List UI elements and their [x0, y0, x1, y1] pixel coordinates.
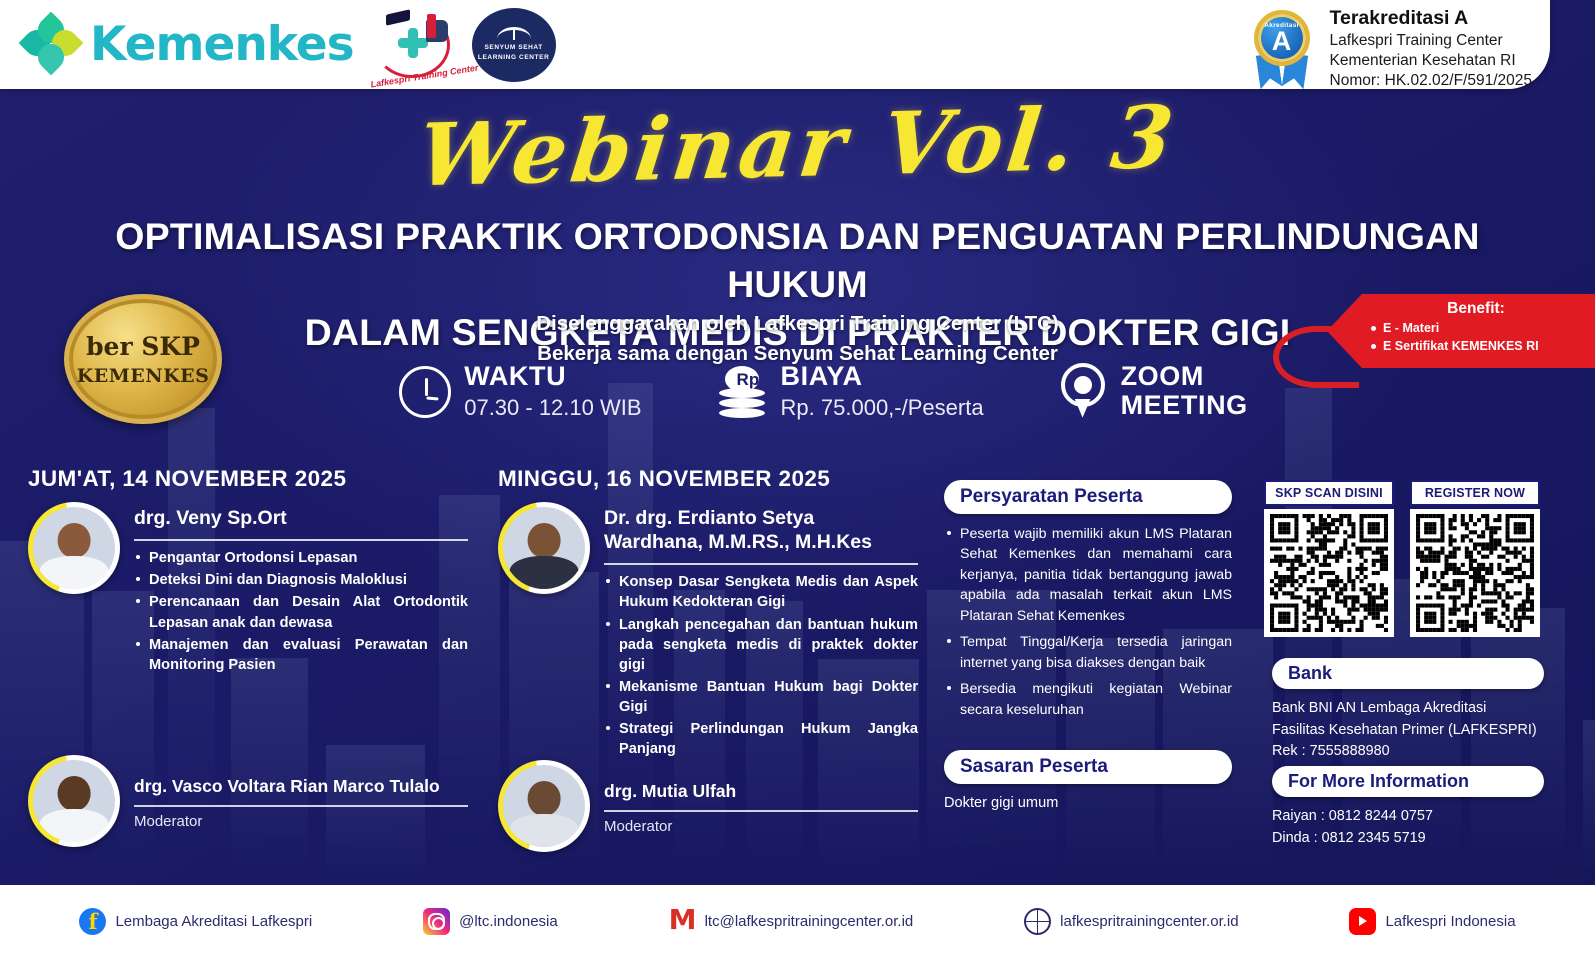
list-item: Peserta wajib memiliki akun LMS Plataran… [944, 524, 1232, 626]
target-title: Sasaran Peserta [960, 756, 1108, 777]
ssl-logo-line1: SENYUM SEHAT [484, 43, 542, 53]
requirements-title: Persyaratan Peserta [960, 486, 1143, 507]
clock-icon [399, 366, 451, 418]
main-title-line1: OPTIMALISASI PRAKTIK ORTODONSIA DAN PENG… [46, 212, 1549, 308]
benefit-title: Benefit: [1369, 300, 1583, 318]
waktu-caption: WAKTU [464, 362, 641, 391]
day-one-speaker-name: drg. Veny Sp.Ort [134, 506, 468, 530]
qr-skp[interactable]: SKP SCAN DISINI [1264, 480, 1394, 637]
kemenkes-logo: Kemenkes [22, 16, 354, 74]
divider [134, 539, 468, 541]
more-information-panel: For More Information Raiyan : 0812 8244 … [1272, 766, 1544, 849]
bank-line1: Bank BNI AN Lembaga Akreditasi [1272, 698, 1544, 720]
more-info-header: For More Information [1272, 766, 1544, 797]
footer-facebook[interactable]: Lembaga Akreditasi Lafkespri [79, 908, 312, 935]
footer-instagram[interactable]: @ltc.indonesia [423, 908, 558, 935]
day-one-column: JUM'AT, 14 NOVEMBER 2025 drg. Veny Sp.Or… [28, 466, 468, 677]
bank-account-number: Rek : 7555888980 [1272, 741, 1544, 763]
avatar [28, 755, 120, 847]
footer-email[interactable]: ltc@lafkespritrainingcenter.or.id [669, 908, 914, 935]
poster-footer: Lembaga Akreditasi Lafkespri @ltc.indone… [0, 885, 1595, 957]
accreditation-block: Akreditasi A Terakreditasi A Lafkespri T… [1246, 6, 1532, 90]
list-item: Strategi Perlindungan Hukum Jangka Panja… [604, 719, 918, 759]
instagram-icon [423, 908, 450, 935]
zoom-caption-line1: ZOOM [1121, 362, 1248, 391]
globe-icon [1024, 908, 1051, 935]
accreditation-badge-grade: A [1272, 29, 1292, 55]
bank-panel: Bank Bank BNI AN Lembaga Akreditasi Fasi… [1272, 658, 1544, 763]
benefit-item: E Sertifikat KEMENKES RI [1369, 338, 1583, 356]
day-two-topic-list: Konsep Dasar Sengketa Medis dan Aspek Hu… [604, 572, 918, 759]
senyum-sehat-learning-center-logo: SENYUM SEHAT LEARNING CENTER [472, 8, 556, 82]
accreditation-number: Nomor: HK.02.02/F/591/2025 [1330, 71, 1532, 91]
lafkespri-training-center-logo: Lafkespri Training Center [368, 6, 456, 84]
location-pin-icon [1058, 363, 1108, 419]
accreditation-ribbon-icon: Akreditasi A [1246, 8, 1318, 88]
avatar [498, 760, 590, 852]
day-two-date: MINGGU, 16 NOVEMBER 2025 [498, 466, 918, 492]
open-book-icon [497, 27, 531, 39]
footer-website[interactable]: lafkespritrainingcenter.or.id [1024, 908, 1238, 935]
qr-register-label-box: REGISTER NOW [1410, 480, 1540, 506]
zoom-caption-line2: MEETING [1121, 391, 1248, 420]
poster-header: Kemenkes Lafkespri Training Center SENYU… [0, 0, 1550, 89]
list-item: Pengantar Ortodonsi Lepasan [134, 548, 468, 568]
requirements-panel: Persyaratan Peserta Peserta wajib memili… [944, 480, 1232, 726]
day-one-moderator: drg. Vasco Voltara Rian Marco Tulalo Mod… [28, 755, 468, 847]
requirements-header: Persyaratan Peserta [944, 480, 1232, 514]
contact-dinda: Dinda : 0812 2345 5719 [1272, 828, 1544, 850]
divider [604, 563, 918, 565]
footer-youtube[interactable]: Lafkespri Indonesia [1349, 908, 1515, 935]
list-item: Tempat Tinggal/Kerja tersedia jaringan i… [944, 632, 1232, 673]
requirements-list: Peserta wajib memiliki akun LMS Plataran… [944, 524, 1232, 720]
day-one-moderator-role: Moderator [134, 813, 468, 830]
accreditation-line3: Kementerian Kesehatan RI [1330, 51, 1532, 71]
email-label: ltc@lafkespritrainingcenter.or.id [705, 913, 914, 930]
benefit-list: E - Materi E Sertifikat KEMENKES RI [1369, 320, 1583, 356]
qr-section: SKP SCAN DISINI REGISTER NOW [1264, 480, 1540, 637]
avatar [28, 502, 120, 594]
bank-header: Bank [1272, 658, 1544, 689]
day-two-speaker: Dr. drg. Erdianto Setya Wardhana, M.M.RS… [498, 502, 918, 761]
biaya-value: Rp. 75.000,-/Peserta [781, 394, 984, 423]
avatar [498, 502, 590, 594]
day-one-date: JUM'AT, 14 NOVEMBER 2025 [28, 466, 468, 492]
gmail-icon [669, 908, 696, 935]
day-two-moderator-role: Moderator [604, 818, 918, 835]
skp-medal-line1: ber SKP [86, 332, 200, 361]
event-info-row: WAKTU 07.30 - 12.10 WIB Rp BIAYA Rp. 75.… [0, 362, 1595, 422]
bank-title: Bank [1288, 663, 1332, 683]
list-item: Langkah pencegahan dan bantuan hukum pad… [604, 615, 918, 675]
qr-register-label: REGISTER NOW [1425, 486, 1525, 500]
kemenkes-mark-icon [22, 16, 80, 74]
coins-icon: Rp [716, 366, 768, 418]
facebook-icon [79, 908, 106, 935]
info-biaya: Rp BIAYA Rp. 75.000,-/Peserta [716, 362, 984, 422]
qr-skp-code[interactable] [1264, 509, 1394, 637]
day-one-speaker: drg. Veny Sp.Ort Pengantar Ortodonsi Lep… [28, 502, 468, 677]
day-one-moderator-name: drg. Vasco Voltara Rian Marco Tulalo [134, 776, 468, 797]
day-two-column: MINGGU, 16 NOVEMBER 2025 Dr. drg. Erdian… [498, 466, 918, 761]
youtube-label: Lafkespri Indonesia [1385, 913, 1515, 930]
info-waktu: WAKTU 07.30 - 12.10 WIB [399, 362, 641, 422]
qr-skp-label-box: SKP SCAN DISINI [1264, 480, 1394, 506]
list-item: Bersedia mengikuti kegiatan Webinar seca… [944, 679, 1232, 720]
ssl-logo-line2: LEARNING CENTER [478, 53, 549, 63]
day-two-speaker-name: Dr. drg. Erdianto Setya Wardhana, M.M.RS… [604, 506, 918, 554]
webinar-script-title: Webinar Vol. 3 [0, 77, 1595, 217]
day-two-moderator: drg. Mutia Ulfah Moderator [498, 760, 918, 852]
list-item: Deteksi Dini dan Diagnosis Maloklusi [134, 570, 468, 590]
benefit-tag: Benefit: E - Materi E Sertifikat KEMENKE… [1327, 294, 1595, 368]
list-item: Konsep Dasar Sengketa Medis dan Aspek Hu… [604, 572, 918, 612]
waktu-value: 07.30 - 12.10 WIB [464, 394, 641, 423]
divider [604, 810, 918, 812]
bank-line2: Fasilitas Kesehatan Primer (LAFKESPRI) [1272, 720, 1544, 742]
webinar-poster: Kemenkes Lafkespri Training Center SENYU… [0, 0, 1595, 957]
accreditation-line2: Lafkespri Training Center [1330, 31, 1532, 51]
list-item: Perencanaan dan Desain Alat Ortodontik L… [134, 592, 468, 632]
info-zoom: ZOOM MEETING [1058, 362, 1248, 419]
day-one-topic-list: Pengantar Ortodonsi Lepasan Deteksi Dini… [134, 548, 468, 675]
list-item: Mekanisme Bantuan Hukum bagi Dokter Gigi [604, 677, 918, 717]
divider [134, 805, 468, 807]
qr-register-code[interactable] [1410, 509, 1540, 637]
benefit-item: E - Materi [1369, 320, 1583, 338]
target-value: Dokter gigi umum [944, 795, 1232, 811]
more-info-title: For More Information [1288, 771, 1469, 791]
qr-register[interactable]: REGISTER NOW [1410, 480, 1540, 637]
youtube-icon [1349, 908, 1376, 935]
instagram-label: @ltc.indonesia [459, 913, 558, 930]
contact-raiyan: Raiyan : 0812 8244 0757 [1272, 806, 1544, 828]
biaya-caption: BIAYA [781, 362, 984, 391]
qr-skp-label: SKP SCAN DISINI [1275, 486, 1383, 500]
facebook-label: Lembaga Akreditasi Lafkespri [115, 913, 312, 930]
day-two-moderator-name: drg. Mutia Ulfah [604, 781, 918, 802]
accreditation-title: Terakreditasi A [1330, 6, 1532, 31]
kemenkes-wordmark: Kemenkes [90, 17, 354, 72]
target-audience-panel: Sasaran Peserta Dokter gigi umum [944, 750, 1232, 811]
website-label: lafkespritrainingcenter.or.id [1060, 913, 1238, 930]
list-item: Manajemen dan evaluasi Perawatan dan Mon… [134, 635, 468, 675]
target-header: Sasaran Peserta [944, 750, 1232, 784]
